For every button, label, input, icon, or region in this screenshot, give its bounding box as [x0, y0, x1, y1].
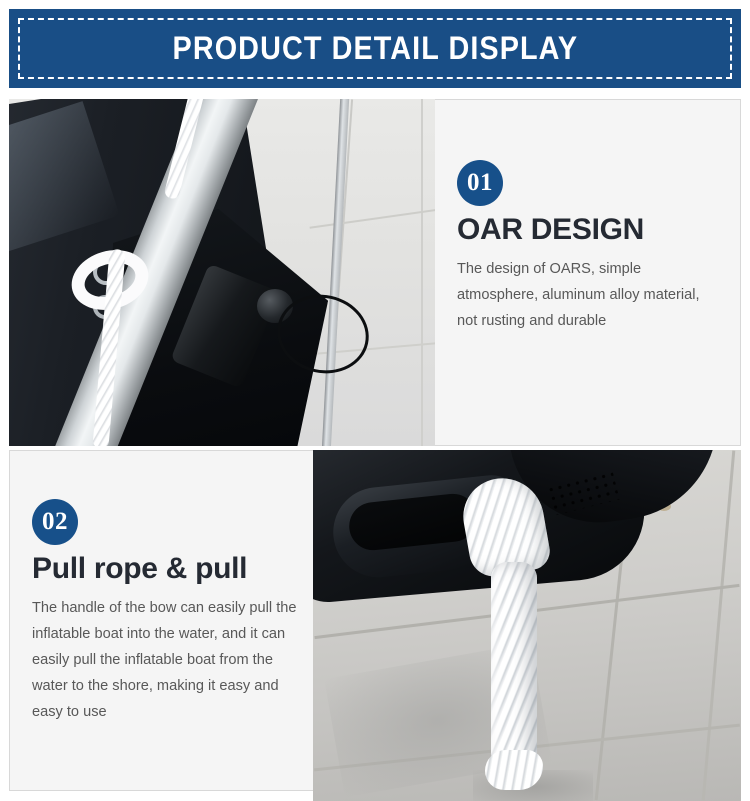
section-01-text-card: 01 OAR DESIGN The design of OARS, simple… — [435, 99, 741, 446]
page-header-banner: PRODUCT DETAIL DISPLAY — [9, 9, 741, 88]
section-01-title: OAR DESIGN — [457, 213, 722, 248]
tile-grout-line — [421, 99, 423, 446]
section-02-title: Pull rope & pull — [32, 552, 299, 587]
section-01-number-badge: 01 — [457, 160, 503, 206]
section-02-photo — [313, 450, 741, 801]
section-01: 01 OAR DESIGN The design of OARS, simple… — [9, 99, 741, 446]
rope-tail — [485, 750, 543, 790]
section-01-body: The design of OARS, simple atmosphere, a… — [457, 256, 722, 334]
section-02: 02 Pull rope & pull The handle of the bo… — [9, 450, 741, 801]
page-title: PRODUCT DETAIL DISPLAY — [172, 30, 578, 67]
section-02-body: The handle of the bow can easily pull th… — [32, 595, 299, 725]
product-detail-page: PRODUCT DETAIL DISPLAY 01 — [0, 0, 750, 801]
coiled-white-rope — [491, 562, 537, 774]
section-02-text-card: 02 Pull rope & pull The handle of the bo… — [9, 450, 313, 791]
hull-highlight — [9, 101, 120, 255]
section-01-photo — [9, 99, 435, 446]
section-02-number-badge: 02 — [32, 499, 78, 545]
